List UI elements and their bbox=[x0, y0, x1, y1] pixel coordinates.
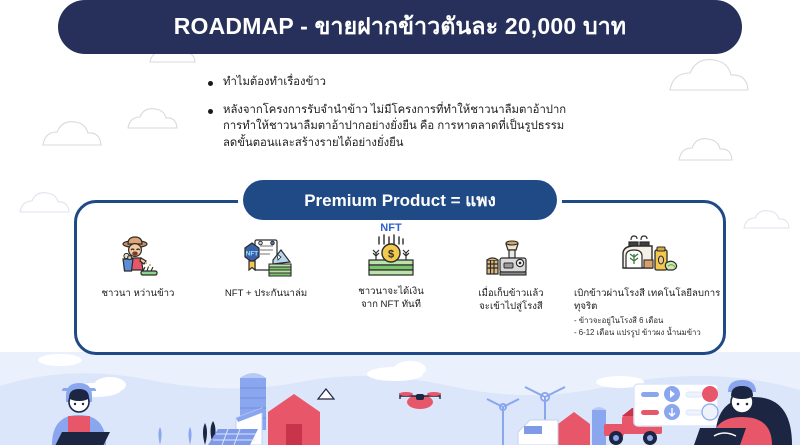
list-item: หลังจากโครงการรับจำนำข้าว ไม่มีโครงการที… bbox=[208, 102, 628, 152]
factory-products-icon bbox=[617, 228, 679, 280]
step-label: เมื่อเก็บข้าวแล้ว จะเข้าไปสู่โรงสี bbox=[478, 287, 543, 313]
step-4: เมื่อเก็บข้าวแล้ว จะเข้าไปสู่โรงสี bbox=[452, 228, 570, 350]
step-2: NFT NFT + ประกันนาล่ม bbox=[202, 228, 330, 350]
farm-illustration bbox=[0, 352, 800, 445]
bullet-dot-icon bbox=[208, 109, 213, 114]
nft-coin-money-icon: NFT $ bbox=[365, 220, 417, 278]
step-label: ชาวนาจะได้เงิน จาก NFT ทันที bbox=[358, 285, 424, 311]
dashboard-panel bbox=[634, 384, 718, 426]
step-3: NFT $ bbox=[330, 228, 452, 350]
premium-product-label: Premium Product = แพง bbox=[304, 187, 496, 214]
page-title: ROADMAP - ขายฝากข้าวตันละ 20,000 บาท bbox=[174, 9, 627, 45]
svg-text:NFT: NFT bbox=[246, 251, 259, 258]
step-label: ชาวนา หว่านข้าว bbox=[102, 287, 175, 300]
list-item: ทำไมต้องทำเรื่องข้าว bbox=[208, 74, 628, 91]
farmer-sowing-rice-icon bbox=[114, 228, 162, 280]
infographic-page: ROADMAP - ขายฝากข้าวตันละ 20,000 บาท ทำไ… bbox=[0, 0, 800, 445]
nft-certificate-field-icon: NFT bbox=[239, 228, 293, 280]
roadmap-steps: ชาวนา หว่านข้าว bbox=[74, 228, 726, 350]
step-sublabel: - ข้าวจะอยู่ในโรงสี 6 เดือน - 6-12 เดือน… bbox=[574, 315, 701, 338]
header-banner: ROADMAP - ขายฝากข้าวตันละ 20,000 บาท bbox=[58, 0, 742, 54]
bullet-dot-icon bbox=[208, 81, 213, 86]
step-label: NFT + ประกันนาล่ม bbox=[225, 287, 307, 300]
step-1: ชาวนา หว่านข้าว bbox=[74, 228, 202, 350]
bullet-text: หลังจากโครงการรับจำนำข้าว ไม่มีโครงการที… bbox=[223, 102, 566, 152]
svg-text:NFT: NFT bbox=[380, 222, 402, 234]
bullet-text: ทำไมต้องทำเรื่องข้าว bbox=[223, 74, 326, 91]
svg-text:$: $ bbox=[388, 249, 394, 261]
step-5: เบิกข้าวผ่านโรงสี เทคโนโลยีลบการทุจริต -… bbox=[570, 228, 726, 350]
step-label: เบิกข้าวผ่านโรงสี เทคโนโลยีลบการทุจริต bbox=[574, 287, 722, 313]
bullet-list: ทำไมต้องทำเรื่องข้าว หลังจากโครงการรับจำ… bbox=[208, 74, 628, 162]
premium-product-badge: Premium Product = แพง bbox=[243, 180, 557, 220]
rice-mill-machine-icon bbox=[484, 228, 538, 280]
